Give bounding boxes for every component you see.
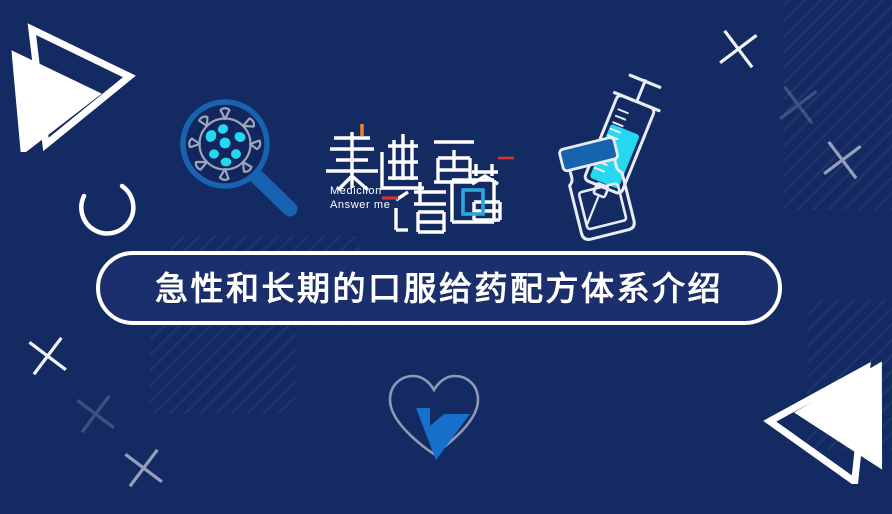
x-mark-bottom-left-3 [119,443,169,498]
x-mark-top-right-1 [713,24,763,79]
page-title: 急性和长期的口服给药配方体系介绍 [155,272,723,305]
syringe-vial-icon [552,72,680,242]
medicilon-logo: Medicilon Answer me [322,118,522,236]
logo-latin-text: Medicilon Answer me [330,184,390,212]
triangles-left-icon [0,18,150,152]
logo-latin-line-1: Medicilon [330,184,390,198]
x-mark-bottom-left-1 [23,331,73,386]
heart-pulse-icon [378,368,490,462]
logo-latin-line-2: Answer me [330,198,390,212]
triangles-right-icon [748,352,892,484]
promo-banner: Medicilon Answer me 急性和长期的口服给药配方体系介绍 [0,0,892,514]
x-mark-bottom-left-2 [71,389,121,444]
magnifier-virus-icon [172,92,302,220]
title-capsule: 急性和长期的口服给药配方体系介绍 [96,251,782,325]
x-mark-top-right-3 [817,135,867,190]
arc-left-icon [72,172,142,244]
x-mark-top-right-2 [773,80,823,135]
